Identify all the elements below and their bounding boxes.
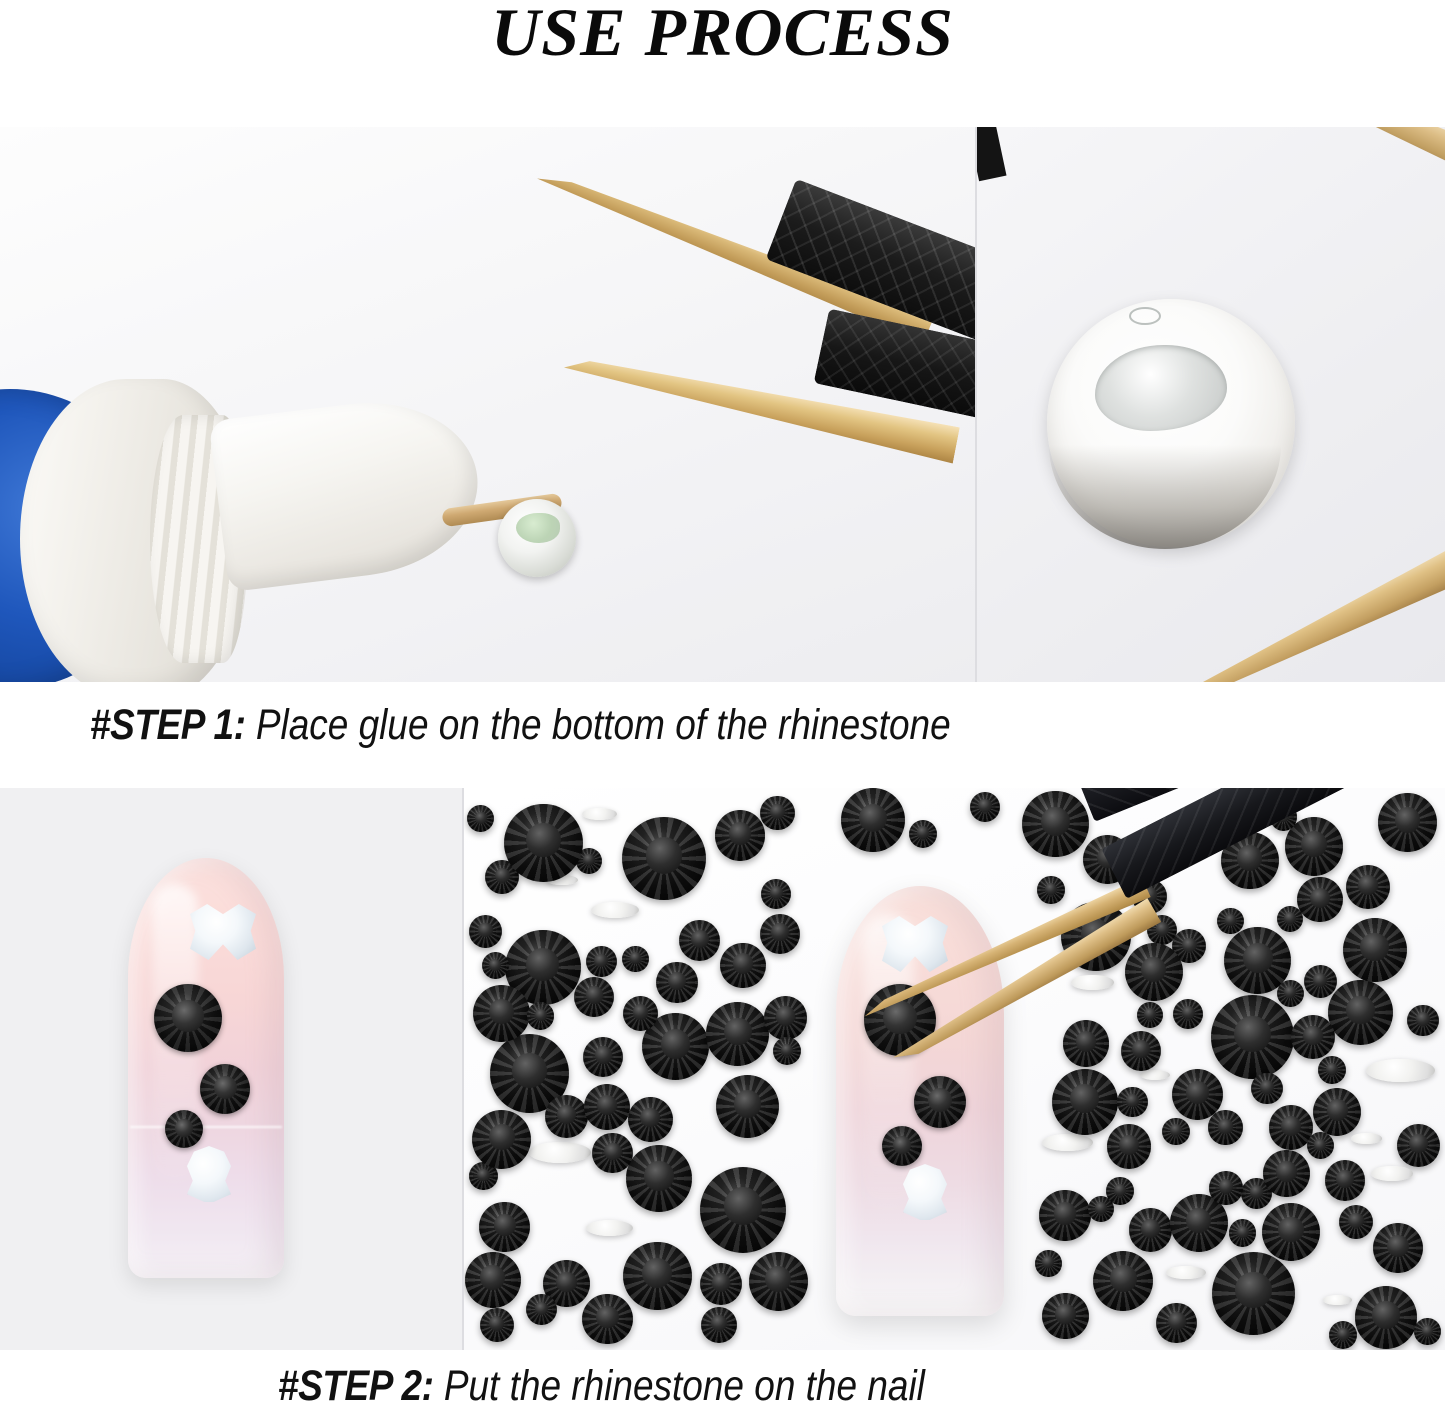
black-rhinestone xyxy=(1107,1124,1152,1169)
black-rhinestone xyxy=(583,1037,623,1077)
black-rhinestone xyxy=(1212,1252,1295,1335)
black-rhinestone xyxy=(586,946,617,977)
black-rhinestone xyxy=(1229,1219,1257,1247)
tweezer-arm-upper-icon xyxy=(1229,127,1445,207)
black-rhinestone xyxy=(472,1110,531,1169)
black-rhinestone xyxy=(1414,1318,1441,1345)
glue-drop xyxy=(516,513,560,543)
step-1-text: Place glue on the bottom of the rhinesto… xyxy=(256,701,951,750)
black-rhinestone xyxy=(1106,1177,1134,1205)
black-rhinestone xyxy=(1307,1132,1334,1159)
black-rhinestone xyxy=(1156,1303,1197,1344)
rhinestone-foil-back xyxy=(1071,975,1114,990)
black-rhinestone xyxy=(582,1294,633,1345)
black-rhinestone xyxy=(970,792,1001,823)
black-rhinestone-small xyxy=(165,1110,203,1148)
infographic-page: USE PROCESS #STEP xyxy=(0,0,1445,1412)
black-rhinestone xyxy=(479,1202,530,1253)
black-rhinestone xyxy=(749,1252,808,1311)
black-rhinestone xyxy=(1209,1171,1243,1205)
rhinestone-foil-back xyxy=(1323,1295,1352,1305)
black-rhinestone xyxy=(701,1307,737,1343)
black-rhinestone xyxy=(1304,965,1337,998)
rhinestone-foil-back xyxy=(591,902,639,918)
black-rhinestone xyxy=(679,920,720,961)
step-2-text: Put the rhinestone on the nail xyxy=(444,1362,925,1411)
black-rhinestone xyxy=(622,817,705,900)
rhinestone-edge-shadow xyxy=(1049,445,1281,549)
black-rhinestone xyxy=(761,879,791,909)
black-rhinestone-large xyxy=(154,984,222,1052)
panel-finished-nail xyxy=(0,788,462,1350)
tweezer-arm-lower-icon xyxy=(1182,525,1445,682)
step-1-image-row xyxy=(0,127,1445,682)
black-rhinestone xyxy=(1042,1293,1089,1340)
black-rhinestone xyxy=(773,1037,801,1065)
panel-applying-rhinestone xyxy=(462,788,1445,1350)
black-rhinestone xyxy=(1117,1087,1148,1118)
black-rhinestone xyxy=(720,943,766,989)
black-rhinestone xyxy=(622,946,648,972)
black-rhinestone xyxy=(1211,995,1295,1079)
black-rhinestone xyxy=(1039,1190,1090,1241)
black-rhinestone xyxy=(1035,1250,1062,1277)
black-rhinestone xyxy=(480,1308,514,1342)
black-rhinestone xyxy=(715,810,765,860)
black-rhinestone xyxy=(1297,877,1343,923)
step-2-label: #STEP 2: xyxy=(278,1362,433,1411)
black-rhinestone xyxy=(623,1242,692,1311)
black-rhinestone xyxy=(465,1252,521,1308)
black-rhinestone xyxy=(841,788,905,852)
black-rhinestone xyxy=(1328,980,1393,1045)
black-rhinestone xyxy=(1162,1118,1189,1145)
black-rhinestone xyxy=(1397,1124,1440,1167)
black-rhinestone xyxy=(1277,980,1304,1007)
black-rhinestone xyxy=(1373,1223,1423,1273)
black-rhinestone xyxy=(1291,1015,1335,1059)
rhinestone-foil-back xyxy=(1351,1133,1382,1143)
black-rhinestone xyxy=(1407,1005,1439,1037)
black-rhinestone xyxy=(1346,865,1391,910)
black-rhinestone xyxy=(545,1095,588,1138)
panel-rhinestone-closeup xyxy=(975,127,1445,682)
black-rhinestone xyxy=(1343,918,1407,982)
rhinestone-foil-back xyxy=(529,1142,591,1163)
black-rhinestone xyxy=(1037,876,1065,904)
panel-corner-shadow xyxy=(975,127,1007,181)
black-rhinestone xyxy=(1173,999,1203,1029)
black-rhinestone xyxy=(1329,1321,1357,1349)
black-rhinestone xyxy=(1052,1069,1118,1135)
rhinestone-foil-back xyxy=(1166,1266,1206,1280)
black-rhinestone xyxy=(1121,1031,1162,1072)
black-rhinestone xyxy=(504,804,583,883)
black-rhinestone-medium xyxy=(200,1064,250,1114)
step-1-label: #STEP 1: xyxy=(90,701,245,750)
black-rhinestone xyxy=(1208,1110,1242,1144)
black-rhinestone xyxy=(760,796,794,830)
rhinestone-foil-back xyxy=(1366,1059,1435,1083)
step-2-caption: #STEP 2: Put the rhinestone on the nail xyxy=(278,1356,925,1412)
black-rhinestone xyxy=(526,1294,557,1325)
black-rhinestone xyxy=(764,996,808,1040)
black-rhinestone xyxy=(1129,1208,1173,1252)
page-title: USE PROCESS xyxy=(0,0,1445,68)
black-rhinestone xyxy=(1325,1160,1365,1200)
black-rhinestone xyxy=(1318,1056,1346,1084)
rhinestone-foil-back xyxy=(1140,1070,1170,1080)
black-rhinestone xyxy=(1063,1020,1109,1066)
black-rhinestone xyxy=(706,1002,769,1065)
black-rhinestone xyxy=(909,820,937,848)
black-rhinestone xyxy=(1022,791,1089,858)
black-rhinestone xyxy=(716,1075,779,1138)
black-rhinestone xyxy=(574,977,614,1017)
step-1-caption: #STEP 1: Place glue on the bottom of the… xyxy=(90,695,951,755)
black-rhinestone xyxy=(584,1084,630,1130)
glue-bottle-nozzle xyxy=(208,390,487,592)
rhinestone-foil-back xyxy=(1371,1166,1413,1180)
black-rhinestone xyxy=(1093,1251,1153,1311)
black-rhinestone xyxy=(626,1145,693,1212)
step-2-image-row xyxy=(0,788,1445,1350)
black-rhinestone xyxy=(1277,906,1303,932)
glue-bubble xyxy=(1129,307,1161,325)
black-rhinestone xyxy=(527,1002,554,1029)
black-rhinestone xyxy=(1339,1205,1374,1240)
black-rhinestone-small xyxy=(882,1126,922,1166)
rhinestone-foil-back xyxy=(1042,1134,1093,1151)
rhinestone-foil-back xyxy=(582,808,617,820)
black-rhinestone xyxy=(1262,1203,1320,1261)
black-rhinestone xyxy=(1137,1002,1164,1029)
black-rhinestone xyxy=(623,996,658,1031)
rhinestone-foil-back xyxy=(586,1220,634,1236)
black-rhinestone-medium xyxy=(914,1076,966,1128)
black-rhinestone xyxy=(467,805,494,832)
black-rhinestone xyxy=(1251,1073,1283,1105)
black-rhinestone xyxy=(1217,908,1243,934)
black-rhinestone xyxy=(760,914,800,954)
black-rhinestone xyxy=(700,1263,742,1305)
black-rhinestone xyxy=(656,962,698,1004)
black-rhinestone xyxy=(1263,1150,1310,1197)
black-rhinestone xyxy=(700,1167,786,1253)
black-rhinestone xyxy=(1378,793,1437,852)
black-rhinestone xyxy=(1125,943,1183,1001)
black-rhinestone xyxy=(1355,1286,1418,1349)
panel-glue-application xyxy=(0,127,975,682)
black-rhinestone xyxy=(469,915,502,948)
black-rhinestone xyxy=(1313,1088,1361,1136)
black-rhinestone xyxy=(628,1097,673,1142)
